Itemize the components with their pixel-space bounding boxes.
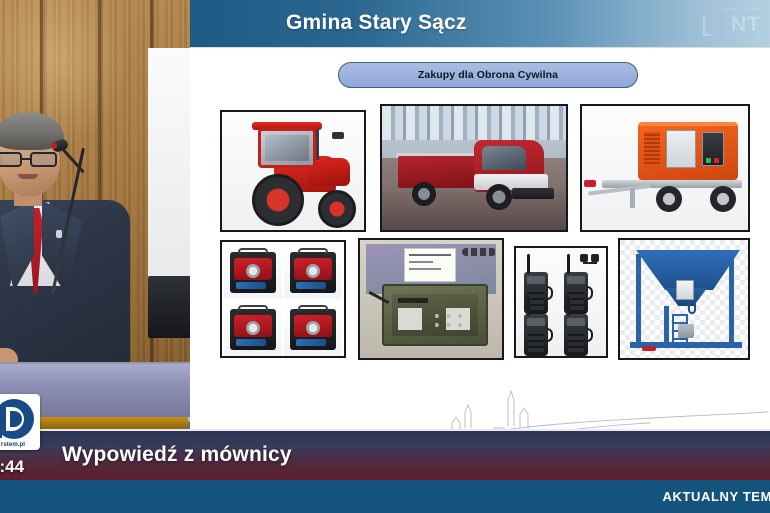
monitor (148, 276, 190, 338)
bottom-ticker-text: AKTUALNY TEMA (663, 489, 770, 504)
photo-radios (514, 246, 608, 358)
slide-banner: Zakupy dla Obrona Cywilna (338, 62, 638, 88)
photo-generators (220, 240, 346, 358)
timestamp: 8:44 (0, 457, 24, 477)
photo-truck (380, 104, 568, 232)
photo-military-box (358, 238, 504, 360)
speaker-mouth (18, 174, 38, 179)
projection-screen (148, 48, 190, 298)
logo-domain-text: rstem.pl (0, 442, 40, 448)
photo-sandbag-machine (618, 238, 750, 360)
glasses-icon (0, 152, 62, 167)
gold-accent-strip (36, 417, 188, 429)
station-logo: x rstem.pl (0, 394, 40, 450)
lower-third-bar: Wypowiedź z mównicy (0, 429, 770, 480)
slide-header: Gmina Stary Sącz NOWY TARG NT (190, 0, 770, 48)
photo-tractor (220, 110, 366, 232)
nt-watermark-logo: NOWY TARG NT (701, 6, 761, 42)
watermark-small-text: NOWY TARG (723, 6, 760, 11)
watermark-big-text: NT (731, 13, 761, 37)
logo-stem (0, 424, 2, 438)
bracket-icon (703, 16, 711, 36)
bottom-ticker-bar: AKTUALNY TEMA (0, 480, 770, 513)
lower-third-title: Wypowiedź z mównicy (62, 443, 292, 467)
slide-banner-label: Zakupy dla Obrona Cywilna (418, 69, 558, 81)
slide-title: Gmina Stary Sącz (286, 11, 467, 35)
broadcast-screen: Gmina Stary Sącz NOWY TARG NT Zakupy dla… (0, 0, 770, 513)
microphone-windscreen (51, 142, 57, 149)
lapel-pin (56, 230, 62, 238)
photo-generator-trailer (580, 104, 750, 232)
presentation-slide: Gmina Stary Sącz NOWY TARG NT Zakupy dla… (190, 0, 770, 478)
